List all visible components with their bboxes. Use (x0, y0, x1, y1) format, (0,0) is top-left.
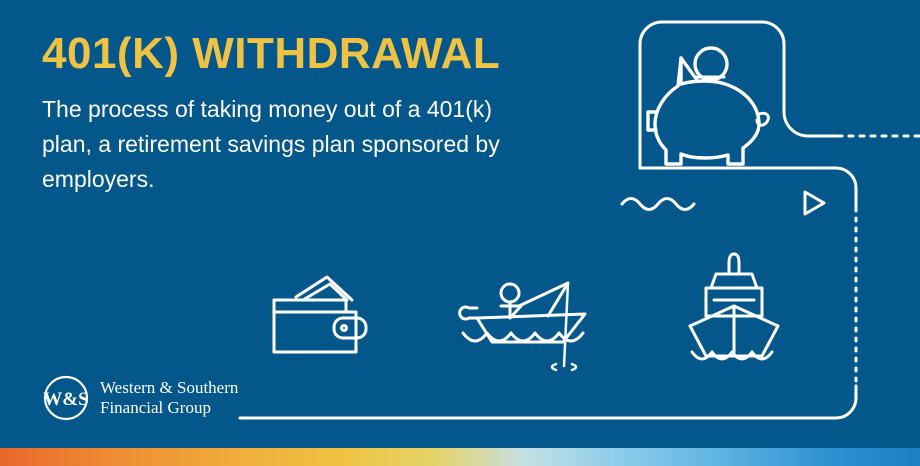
logo-line-1: Western & Southern (100, 378, 238, 398)
page-subtitle: The process of taking money out of a 401… (42, 92, 502, 197)
headline-block: 401(K) WITHDRAWAL The process of taking … (42, 28, 562, 197)
logo-monogram-icon: W&S (42, 374, 90, 422)
logo-wordmark: Western & Southern Financial Group (100, 378, 238, 418)
bottom-gradient-bar (0, 448, 920, 466)
logo-line-2: Financial Group (100, 398, 238, 418)
brand-logo[interactable]: W&S Western & Southern Financial Group (42, 374, 238, 422)
svg-text:W&S: W&S (43, 389, 88, 410)
banner-root: 401(K) WITHDRAWAL The process of taking … (0, 0, 920, 466)
page-title: 401(K) WITHDRAWAL (42, 28, 562, 80)
